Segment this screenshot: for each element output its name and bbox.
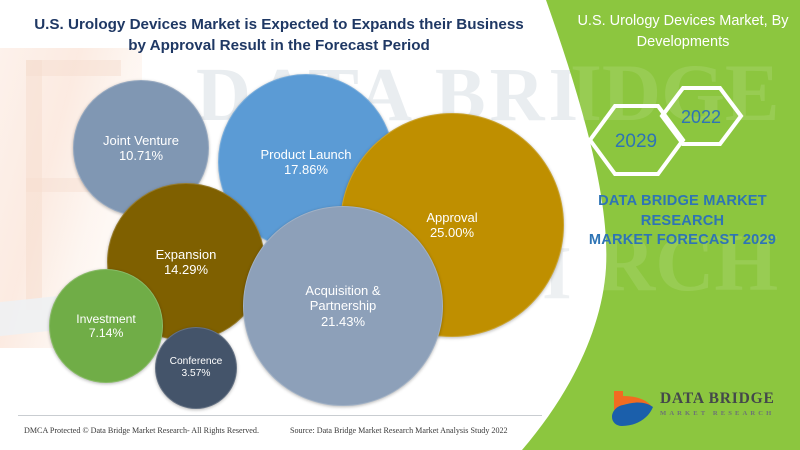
- bubble-value: 14.29%: [164, 262, 208, 277]
- bubble-label: Conference: [170, 356, 223, 368]
- hexagon-2029-label: 2029: [615, 131, 657, 152]
- bubble-value: 17.86%: [284, 162, 328, 177]
- bubble-value: 21.43%: [321, 314, 365, 329]
- bubble-label: Approval: [426, 210, 477, 225]
- watermark-peach-bar-vertical: [26, 60, 42, 310]
- bubble-value: 25.00%: [430, 225, 474, 240]
- footer-copyright: DMCA Protected © Data Bridge Market Rese…: [24, 426, 259, 435]
- panel-subtitle-line-2: RESEARCH: [560, 212, 800, 232]
- bubble-investment[interactable]: Investment7.14%: [49, 269, 163, 383]
- bubble-label: Product Launch: [260, 147, 351, 162]
- panel-subtitle-line-1: DATA BRIDGE MARKET: [560, 192, 800, 212]
- panel-subtitle-line-3: MARKET FORECAST 2029: [560, 231, 800, 251]
- footer-source: Source: Data Bridge Market Research Mark…: [290, 426, 508, 435]
- bubble-label: Acquisition & Partnership: [271, 283, 416, 314]
- bubble-conference[interactable]: Conference3.57%: [155, 327, 237, 409]
- watermark-peach-bar-top: [26, 60, 121, 76]
- right-panel: IDGE RCH U.S. Urology Devices Market, By…: [510, 0, 800, 450]
- brand-logo-tagline: MARKET RESEARCH: [660, 410, 775, 417]
- brand-logo-mark: [608, 388, 658, 432]
- bubble-label: Expansion: [156, 247, 217, 262]
- panel-subtitle: DATA BRIDGE MARKET RESEARCH MARKET FOREC…: [560, 192, 800, 251]
- bubble-acquisition-partnership[interactable]: Acquisition & Partnership21.43%: [243, 206, 443, 406]
- footer-divider: [18, 415, 542, 416]
- panel-title: U.S. Urology Devices Market, By Developm…: [566, 11, 800, 53]
- brand-logo-text: DATA BRIDGE MARKET RESEARCH: [660, 390, 775, 417]
- bubble-value: 3.57%: [182, 368, 211, 380]
- bubble-value: 10.71%: [119, 148, 163, 163]
- hexagon-group: 2029 2022: [570, 82, 800, 192]
- brand-logo-name: DATA BRIDGE: [660, 390, 775, 408]
- bubble-label: Investment: [76, 312, 136, 326]
- hexagon-2022-label: 2022: [681, 107, 721, 127]
- page-title: U.S. Urology Devices Market is Expected …: [34, 14, 524, 56]
- bubble-label: Joint Venture: [103, 133, 179, 148]
- infographic-canvas: DATA BRIDGE RESEARCH U.S. Urology Device…: [0, 0, 800, 450]
- brand-logo: DATA BRIDGE MARKET RESEARCH: [608, 388, 788, 434]
- bubble-value: 7.14%: [89, 326, 124, 340]
